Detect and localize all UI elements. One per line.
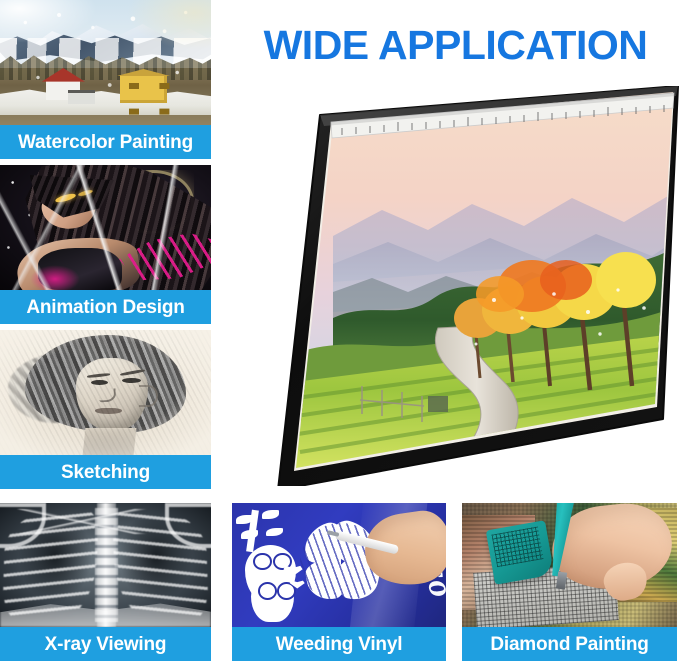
caption-label-sketching: Sketching xyxy=(61,463,150,482)
caption-label-xray: X-ray Viewing xyxy=(45,635,167,654)
caption-label-animation: Animation Design xyxy=(26,298,184,317)
caption-bar-xray: X-ray Viewing xyxy=(0,627,211,661)
caption-label-watercolor: Watercolor Painting xyxy=(18,133,193,152)
application-card-sketching[interactable]: Sketching xyxy=(0,330,211,489)
caption-label-diamond: Diamond Painting xyxy=(490,635,648,654)
application-card-watercolor[interactable]: Watercolor Painting xyxy=(0,0,211,159)
application-card-diamond[interactable]: Diamond Painting xyxy=(462,503,677,661)
page-title-text: WIDE APPLICATION xyxy=(264,25,648,66)
caption-label-vinyl: Weeding Vinyl xyxy=(276,635,403,654)
led-light-pad-product-image xyxy=(232,86,679,486)
page-title: WIDE APPLICATION xyxy=(232,14,679,76)
caption-bar-sketching: Sketching xyxy=(0,455,211,489)
xray-viewing-image xyxy=(0,503,211,627)
diamond-painting-image xyxy=(462,503,677,627)
watercolor-painting-image xyxy=(0,0,211,125)
animation-design-image xyxy=(0,165,211,290)
sketching-image xyxy=(0,330,211,455)
application-card-animation[interactable]: Animation Design xyxy=(0,165,211,324)
weeding-vinyl-image: esome! xyxy=(232,503,446,627)
caption-bar-diamond: Diamond Painting xyxy=(462,627,677,661)
caption-bar-vinyl: Weeding Vinyl xyxy=(232,627,446,661)
light-pad-svg xyxy=(232,86,679,486)
caption-bar-watercolor: Watercolor Painting xyxy=(0,125,211,159)
application-card-xray[interactable]: X-ray Viewing xyxy=(0,503,211,661)
application-card-vinyl[interactable]: esome! Weeding Vinyl xyxy=(232,503,446,661)
caption-bar-animation: Animation Design xyxy=(0,290,211,324)
